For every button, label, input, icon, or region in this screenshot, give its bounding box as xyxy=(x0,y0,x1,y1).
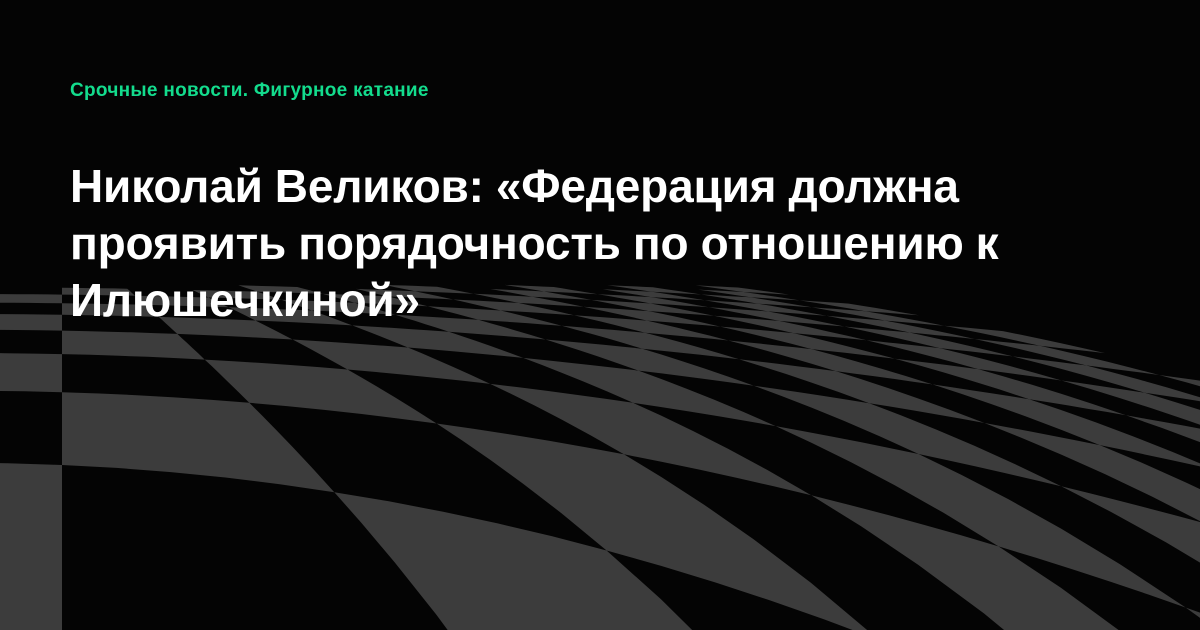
floor-tile xyxy=(293,340,491,384)
floor-tile xyxy=(546,340,754,386)
headline-line-1: Николай Великов: «Федерация должна xyxy=(70,158,1115,215)
floor-tile xyxy=(62,392,334,492)
floor-tile xyxy=(0,353,62,392)
floor-tile xyxy=(205,360,437,424)
floor-tile xyxy=(62,331,205,360)
floor-tile xyxy=(811,495,1200,630)
floor-tile xyxy=(334,492,1059,630)
headline: Николай Великов: «Федерация должна прояв… xyxy=(70,158,1115,329)
floor-tile xyxy=(0,463,62,630)
floor-tile xyxy=(985,423,1200,564)
floor-tile xyxy=(776,426,1186,607)
news-share-card: Срочные новости. Фигурное катание Никола… xyxy=(0,0,1200,630)
floor-tile xyxy=(0,294,62,303)
floor-tile xyxy=(1126,415,1200,526)
floor-tile xyxy=(933,384,1200,469)
floor-tile xyxy=(1062,381,1200,452)
floor-tile xyxy=(754,386,1061,487)
floor-tile xyxy=(739,359,985,423)
floor-tile xyxy=(844,327,1013,357)
floor-tile xyxy=(437,424,879,630)
floor-tile xyxy=(895,359,1126,416)
floor-tile xyxy=(0,314,62,331)
headline-line-3: Илюшечкиной» xyxy=(70,272,1115,329)
floor-tile xyxy=(1186,608,1200,630)
floor-tile xyxy=(1159,375,1200,435)
floor-tile xyxy=(975,339,1159,375)
floor-tile xyxy=(490,384,811,495)
floor-tile xyxy=(1061,486,1200,630)
headline-line-2: проявить порядочность по отношению к xyxy=(70,215,1115,272)
eyebrow-category-label: Срочные новости. Фигурное катание xyxy=(70,79,429,103)
floor-tile xyxy=(728,341,932,385)
floor-tile xyxy=(523,358,776,426)
floor-tile xyxy=(867,340,1062,380)
floor-tile xyxy=(1013,356,1200,405)
floor-tile xyxy=(944,326,1105,353)
floor-tile xyxy=(562,326,739,359)
floor-tile xyxy=(720,327,895,359)
floor-tile xyxy=(352,325,523,358)
